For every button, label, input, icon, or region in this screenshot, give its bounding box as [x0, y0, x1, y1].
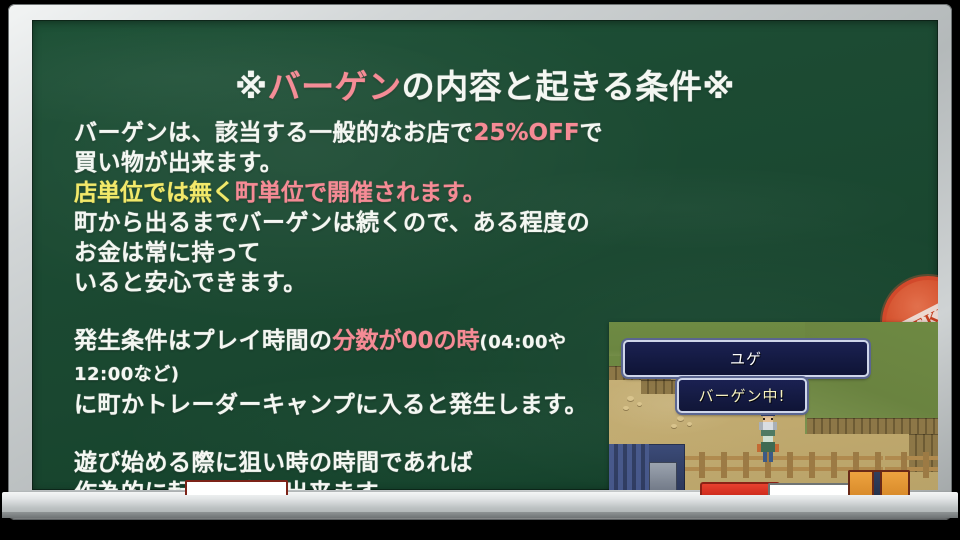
text-paragraph: バーゲンは、該当する一般的なお店で25%OFFで買い物が出来ます。店単位では無く… [74, 118, 604, 298]
paragraph-spacer [74, 298, 604, 326]
text-run-white: 発生条件はプレイ時間の [74, 328, 333, 354]
map-pebble [637, 402, 642, 406]
tray-eraser-white [185, 480, 288, 495]
chalkboard-frame: ※バーゲンの内容と起きる条件※ バーゲンは、該当する一般的なお店で25%OFFで… [8, 4, 952, 520]
title-rest: の内容と起きる条件 [402, 67, 703, 106]
text-run-pink: 25%OFF [474, 120, 580, 146]
text-paragraph: 発生条件はプレイ時間の分数が00の時(04:00や12:00など)に町かトレーダ… [74, 326, 604, 420]
text-run-white: に町かトレーダーキャンプに入ると発生します。 [74, 392, 588, 418]
map-pebble [687, 422, 692, 426]
text-run-yellow: 店単位では無く [74, 180, 235, 206]
text-line: 作為的に起こす事も出来ます。 [74, 478, 604, 490]
title-highlight: バーゲン [268, 67, 402, 106]
paragraph-spacer [74, 420, 604, 448]
map-stone-wall [807, 418, 938, 434]
text-run-pink: 町単位で開催されます。 [235, 180, 486, 206]
page-title: ※バーゲンの内容と起きる条件※ [32, 66, 938, 108]
text-line: 発生条件はプレイ時間の分数が00の時(04:00や12:00など) [74, 326, 604, 390]
dialog-box-town-name: ユゲ [623, 340, 869, 377]
text-run-white: いると安心できます。 [74, 270, 307, 296]
map-pebble [623, 406, 629, 410]
map-pebble [627, 396, 634, 401]
slide-canvas: ※バーゲンの内容と起きる条件※ バーゲンは、該当する一般的なお店で25%OFFで… [0, 0, 960, 540]
text-run-white: 町から出るまでバーゲンは続くので、ある程度のお金は常に持って [74, 210, 590, 266]
text-run-white: 遊び始める際に狙い時の時間であれば [74, 450, 473, 476]
tray-book-right [880, 470, 910, 495]
text-run-white: バーゲンは、該当する一般的なお店で [74, 120, 474, 146]
text-line: に町かトレーダーキャンプに入ると発生します。 [74, 390, 604, 420]
map-pebble [671, 424, 677, 428]
game-screenshot-inset: ユゲ バーゲン中! [609, 322, 938, 490]
body-text-block: バーゲンは、該当する一般的なお店で25%OFFで買い物が出来ます。店単位では無く… [74, 118, 604, 490]
dialog-town-label: ユゲ [730, 348, 762, 369]
title-mark-right: ※ [702, 67, 735, 106]
dialog-box-bargain-status: バーゲン中! [677, 378, 807, 413]
map-pebble [677, 416, 684, 421]
title-mark-left: ※ [235, 67, 268, 106]
map-building-door [649, 462, 677, 490]
chalk-tray [2, 492, 958, 518]
text-line: 町から出るまでバーゲンは続くので、ある程度のお金は常に持って [74, 208, 604, 268]
text-line: 店単位では無く町単位で開催されます。 [74, 178, 604, 208]
text-line: 遊び始める際に狙い時の時間であれば [74, 448, 604, 478]
text-run-pink: 分数が00の時 [333, 328, 480, 354]
text-paragraph: 遊び始める際に狙い時の時間であれば作為的に起こす事も出来ます。 [74, 448, 604, 490]
chalkboard-surface: ※バーゲンの内容と起きる条件※ バーゲンは、該当する一般的なお店で25%OFFで… [32, 20, 938, 490]
npc-character-sprite [755, 430, 781, 462]
map-building-wall [609, 444, 649, 490]
text-line: バーゲンは、該当する一般的なお店で25%OFFで買い物が出来ます。 [74, 118, 604, 178]
dialog-bargain-label: バーゲン中! [698, 385, 785, 406]
text-line: いると安心できます。 [74, 268, 604, 298]
